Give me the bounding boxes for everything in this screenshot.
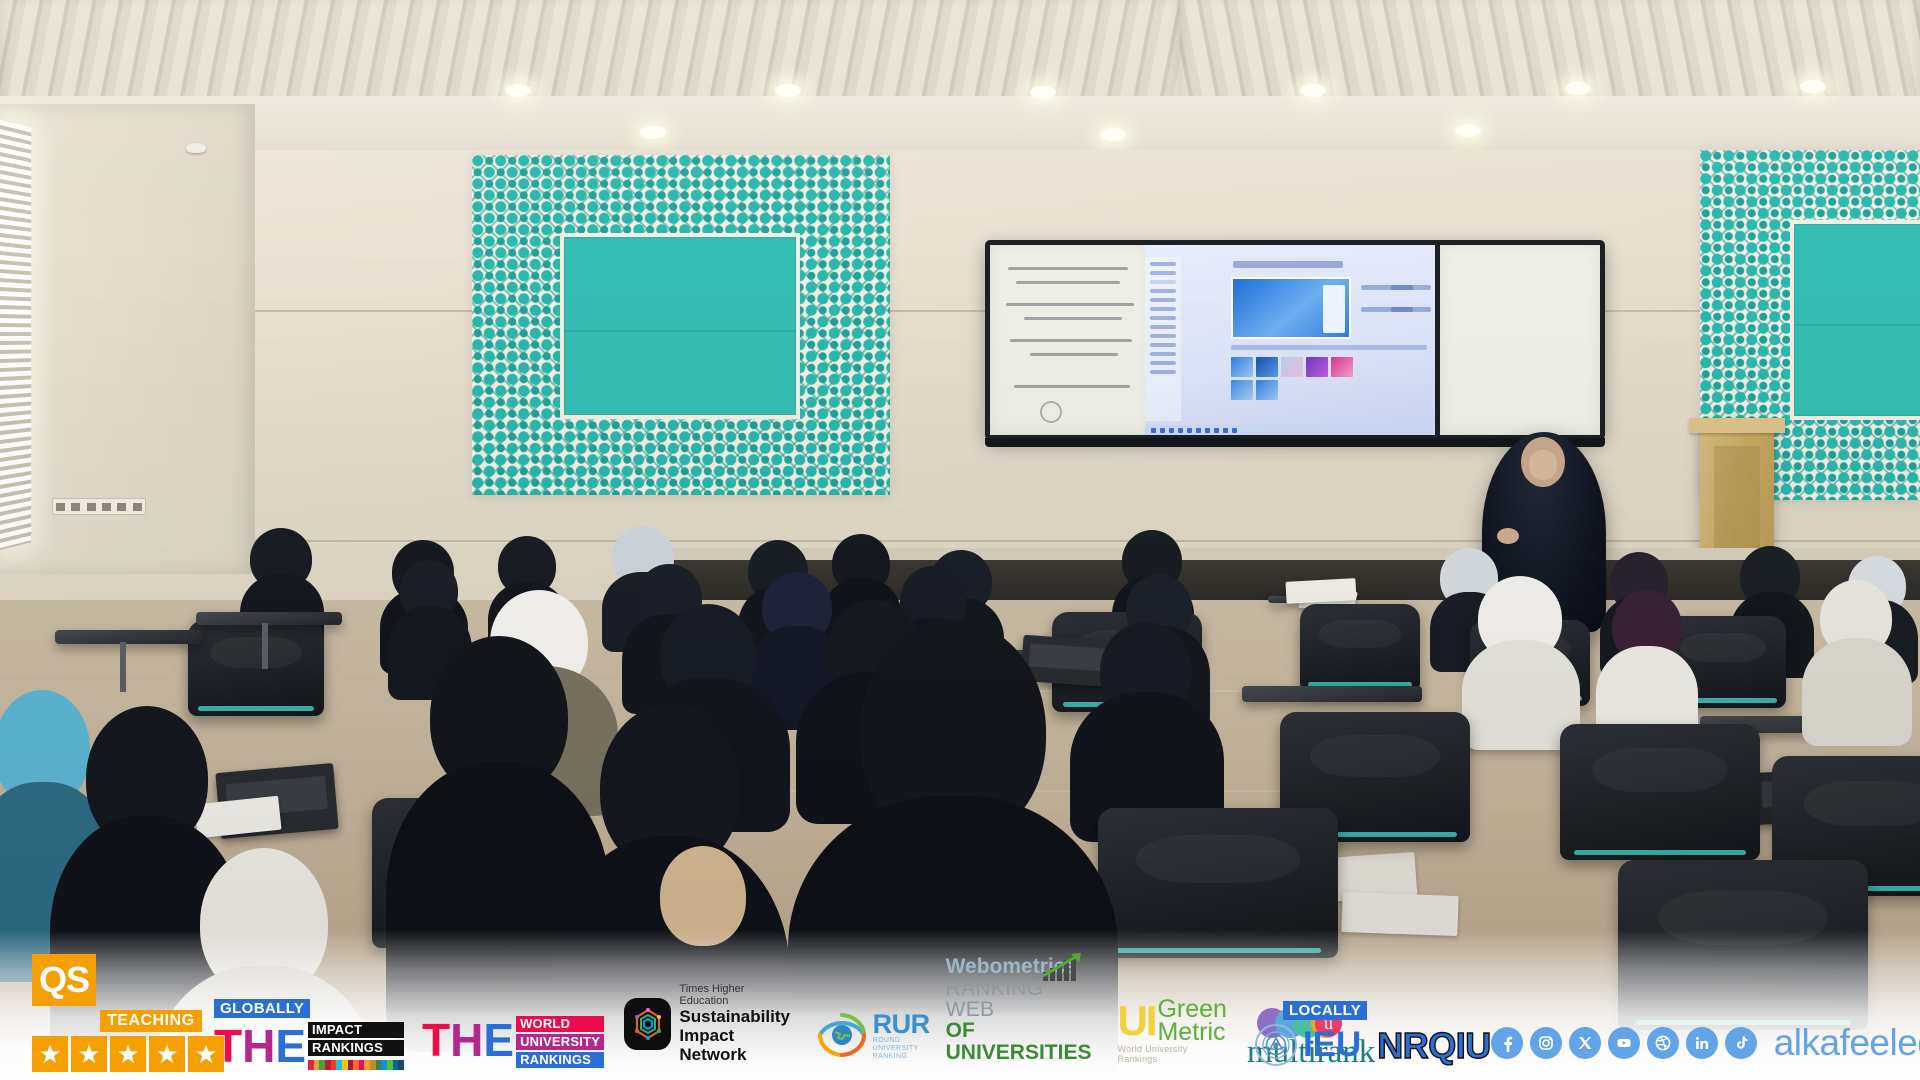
notebook-paper bbox=[1285, 578, 1356, 604]
greenmetric-sub: World University Rankings bbox=[1117, 1044, 1226, 1064]
downlight bbox=[505, 84, 531, 97]
teal-center-panel bbox=[560, 233, 800, 419]
bar-chart-arrow-icon bbox=[1041, 952, 1097, 987]
power-outlet-plate[interactable] bbox=[52, 498, 146, 515]
lecture-chair[interactable] bbox=[1300, 604, 1420, 692]
nrqiu-wordmark: NRQIU bbox=[1377, 1027, 1491, 1064]
attendee-body bbox=[1802, 638, 1912, 746]
sustainability-impact-network-logo: Times Higher Education Sustainability Im… bbox=[624, 983, 795, 1074]
the-brand-wordmark: T H E bbox=[214, 1022, 306, 1070]
star-icon: ★ bbox=[149, 1036, 185, 1072]
windows-taskbar[interactable] bbox=[1145, 425, 1435, 435]
globe-eye-icon bbox=[815, 1009, 869, 1064]
social-links: alkafeeleduiq bbox=[1491, 1024, 1920, 1074]
desk-leg bbox=[120, 642, 126, 692]
qs-mark: QS bbox=[32, 954, 96, 1006]
teal-center-panel bbox=[1790, 220, 1920, 420]
sin-line-1: Sustainability bbox=[679, 1007, 794, 1026]
the-world-university-rankings-logo: T H E WORLD UNIVERSITY RANKINGS bbox=[422, 1016, 604, 1074]
dribbble-icon[interactable] bbox=[1647, 1027, 1679, 1059]
sin-text: Times Higher Education Sustainability Im… bbox=[679, 983, 794, 1064]
lecture-chair[interactable] bbox=[1560, 724, 1760, 860]
the-letter-t: T bbox=[214, 1024, 242, 1068]
downlight bbox=[775, 84, 801, 97]
settings-option[interactable] bbox=[1391, 285, 1431, 290]
webometrics-line-3: OF UNIVERSITIES bbox=[946, 1020, 1092, 1064]
downlight bbox=[1030, 86, 1056, 99]
linkedin-icon[interactable] bbox=[1686, 1027, 1718, 1059]
downlight bbox=[1300, 84, 1326, 97]
university-tag: UNIVERSITY bbox=[516, 1034, 604, 1050]
rur-sub-3: RANKING bbox=[873, 1053, 930, 1061]
impact-tag: IMPACT bbox=[308, 1022, 404, 1038]
ui-greenmetric-logo: UI Green Metric World University Ranking… bbox=[1117, 998, 1226, 1074]
tablet-arm-desk[interactable] bbox=[1242, 686, 1422, 702]
recent-images-label bbox=[1231, 345, 1427, 350]
star-icon: ★ bbox=[32, 1036, 68, 1072]
downlight bbox=[1800, 80, 1826, 93]
presenter-face bbox=[1529, 450, 1557, 480]
star-icon: ★ bbox=[110, 1036, 146, 1072]
whiteboard-left-panel[interactable] bbox=[990, 245, 1150, 435]
smoke-detector-icon bbox=[186, 143, 206, 153]
wallpaper-preview[interactable] bbox=[1231, 277, 1351, 339]
the-letter-t: T bbox=[422, 1018, 450, 1062]
wallpaper-thumbnails[interactable] bbox=[1231, 357, 1377, 400]
rur-text: RUR ROUND UNIVERSITY RANKING bbox=[873, 1012, 930, 1061]
presenter-hand bbox=[1497, 528, 1519, 544]
wall-seam bbox=[250, 540, 1920, 542]
rur-abbr: RUR bbox=[873, 1012, 930, 1037]
the-brand-wordmark: T H E bbox=[422, 1016, 514, 1064]
sin-line-2: Impact Network bbox=[679, 1026, 794, 1064]
globally-badge: GLOBALLY bbox=[214, 999, 310, 1018]
qs-stars-logo: QS TEACHING ★ ★ ★ ★ ★ bbox=[18, 954, 198, 1074]
ieu-row: IEU bbox=[1255, 1024, 1361, 1066]
sdg-color-bar bbox=[308, 1060, 404, 1070]
settings-sidebar[interactable] bbox=[1145, 257, 1181, 421]
tiktok-icon[interactable] bbox=[1725, 1027, 1757, 1059]
nrqiu-logo: NRQIU bbox=[1377, 1027, 1491, 1074]
downlight bbox=[1565, 82, 1591, 95]
tablet-arm-desk[interactable] bbox=[196, 612, 342, 625]
star-icon: ★ bbox=[71, 1036, 107, 1072]
windows-settings-screen[interactable] bbox=[1145, 245, 1435, 435]
ieu-logo: LOCALLY IEU bbox=[1255, 1001, 1367, 1074]
interactive-whiteboard[interactable] bbox=[985, 240, 1605, 440]
the-letter-e: E bbox=[483, 1018, 514, 1062]
greenmetric-ui: UI bbox=[1117, 1002, 1155, 1040]
downlight bbox=[1100, 128, 1126, 141]
sin-eyebrow: Times Higher Education bbox=[679, 983, 794, 1007]
window-blinds bbox=[0, 120, 31, 550]
settings-option[interactable] bbox=[1391, 307, 1431, 312]
webometrics-logo: Webometrics RANKING WEB OF UNIVERSITIES bbox=[946, 956, 1092, 1074]
the-letter-e: E bbox=[275, 1024, 306, 1068]
hexagon-network-icon bbox=[624, 998, 671, 1050]
lattice-panel-left bbox=[472, 155, 890, 495]
greenmetric-row: UI Green Metric bbox=[1117, 998, 1226, 1044]
tablet-arm-desk[interactable] bbox=[55, 630, 203, 644]
rur-logo: RUR ROUND UNIVERSITY RANKING bbox=[815, 1009, 930, 1074]
greenmetric-metric: Metric bbox=[1157, 1021, 1226, 1044]
rankings-tag: RANKINGS bbox=[516, 1052, 604, 1068]
qs-star-rating: ★ ★ ★ ★ ★ bbox=[32, 1036, 224, 1072]
screenshot-root: QS TEACHING ★ ★ ★ ★ ★ GLOBALLY T H bbox=[0, 0, 1920, 1080]
social-handle: alkafeeleduiq bbox=[1774, 1024, 1920, 1062]
impact-rankings-tags: IMPACT RANKINGS bbox=[308, 1022, 404, 1070]
x-twitter-icon[interactable] bbox=[1569, 1027, 1601, 1059]
desk-leg bbox=[262, 623, 268, 669]
arabic-handwriting bbox=[990, 245, 1150, 435]
rankings-tag: RANKINGS bbox=[308, 1040, 404, 1056]
whiteboard-right-panel[interactable] bbox=[1440, 245, 1600, 435]
the-letter-h: H bbox=[450, 1018, 483, 1062]
world-tag: WORLD bbox=[516, 1016, 604, 1032]
ieu-seal-icon bbox=[1255, 1024, 1297, 1066]
instagram-icon[interactable] bbox=[1530, 1027, 1562, 1059]
locally-badge: LOCALLY bbox=[1283, 1001, 1367, 1020]
facebook-icon[interactable] bbox=[1491, 1027, 1523, 1059]
rur-sub-2: UNIVERSITY bbox=[873, 1045, 930, 1053]
lecture-chair[interactable] bbox=[188, 620, 324, 716]
youtube-icon[interactable] bbox=[1608, 1027, 1640, 1059]
settings-page-title bbox=[1233, 261, 1343, 268]
accreditation-logo-banner: QS TEACHING ★ ★ ★ ★ ★ GLOBALLY T H bbox=[0, 930, 1920, 1080]
the-impact-rankings-logo: GLOBALLY T H E IMPACT RANKINGS bbox=[214, 999, 404, 1074]
downlight bbox=[640, 126, 666, 139]
ieu-wordmark: IEU bbox=[1303, 1027, 1361, 1063]
world-rankings-tags: WORLD UNIVERSITY RANKINGS bbox=[516, 1016, 604, 1068]
webometrics-text: Webometrics RANKING WEB OF UNIVERSITIES bbox=[946, 956, 1092, 1064]
the-letter-h: H bbox=[242, 1024, 275, 1068]
downlight bbox=[1455, 124, 1481, 137]
qs-teaching-label: TEACHING bbox=[100, 1010, 202, 1032]
lecture-hall-photo bbox=[0, 0, 1920, 1080]
